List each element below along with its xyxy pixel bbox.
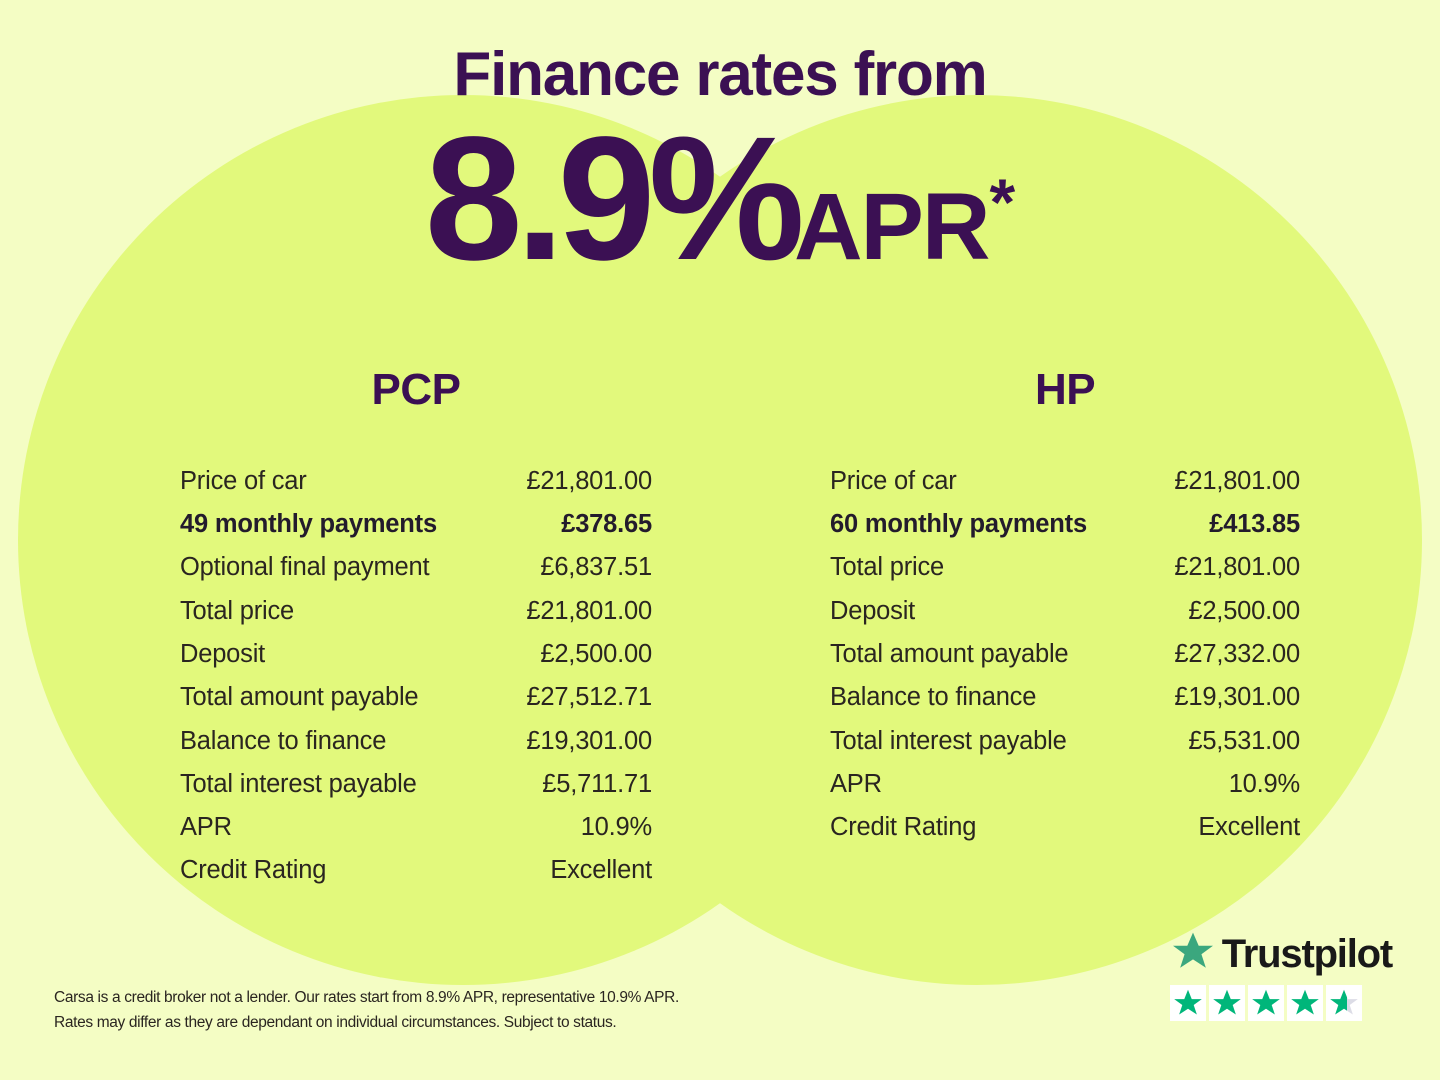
headline-block: Finance rates from 8.9% APR * [0,0,1440,287]
plan-row: Balance to finance£19,301.00 [180,720,652,763]
plan-row-label: Balance to finance [830,685,1036,711]
plan-row: APR10.9% [180,806,652,849]
plan-rows-pcp: Price of car£21,801.0049 monthly payment… [180,460,652,893]
plan-title-hp: HP [830,368,1300,412]
plan-row-label: 49 monthly payments [180,512,437,538]
plan-row: Optional final payment£6,837.51 [180,547,652,590]
plan-row: Credit RatingExcellent [830,806,1300,849]
plan-row-value: £6,837.51 [540,555,652,581]
plan-row-value: £27,332.00 [1174,642,1300,668]
plan-row: Total price£21,801.00 [180,590,652,633]
plan-row: 60 monthly payments£413.85 [830,503,1300,546]
plan-column-pcp: PCP Price of car£21,801.0049 monthly pay… [0,368,720,893]
trustpilot-rating-stars [1170,985,1392,1021]
plan-row-label: Total interest payable [180,772,417,798]
plan-rows-hp: Price of car£21,801.0060 monthly payment… [830,460,1300,850]
plan-row-label: Credit Rating [180,858,326,884]
plan-row-label: Total price [830,555,944,581]
plan-row: Total price£21,801.00 [830,547,1300,590]
plan-row: Deposit£2,500.00 [830,590,1300,633]
disclaimer-line-2: Rates may differ as they are dependant o… [54,1010,814,1035]
plan-row-value: £413.85 [1209,512,1300,538]
plan-row-label: Deposit [180,642,265,668]
plan-row-label: Credit Rating [830,815,976,841]
plan-row: APR10.9% [830,763,1300,806]
plan-row-value: £378.65 [561,512,652,538]
plan-row-value: £2,500.00 [540,642,652,668]
plan-row-label: Total amount payable [830,642,1068,668]
trustpilot-badge[interactable]: Trustpilot [1170,930,1392,1021]
trustpilot-star-box [1248,985,1284,1021]
plan-row: 49 monthly payments£378.65 [180,503,652,546]
plan-row-value: £21,801.00 [1174,469,1300,495]
plan-row: Price of car£21,801.00 [180,460,652,503]
plan-row: Price of car£21,801.00 [830,460,1300,503]
plan-row-label: Total amount payable [180,685,418,711]
trustpilot-wordmark: Trustpilot [1170,930,1392,978]
plan-column-hp: HP Price of car£21,801.0060 monthly paym… [720,368,1440,893]
plan-row-label: 60 monthly payments [830,512,1087,538]
plan-row-value: £21,801.00 [526,599,652,625]
disclaimer-line-1: Carsa is a credit broker not a lender. O… [54,985,814,1010]
plan-row: Deposit£2,500.00 [180,633,652,676]
plan-row-value: £27,512.71 [526,685,652,711]
plan-row-value: Excellent [1198,815,1300,841]
plan-title-pcp: PCP [180,368,652,412]
trustpilot-star-box [1170,985,1206,1021]
plan-row-value: Excellent [550,858,652,884]
trustpilot-star-icon [1170,930,1216,979]
disclaimer-text: Carsa is a credit broker not a lender. O… [54,985,814,1035]
trustpilot-star-box [1209,985,1245,1021]
finance-comparison: PCP Price of car£21,801.0049 monthly pay… [0,368,1440,893]
headline-asterisk: * [990,169,1016,235]
headline-kicker: Finance rates from [0,42,1440,107]
plan-row-value: £19,301.00 [526,729,652,755]
plan-row-value: £19,301.00 [1174,685,1300,711]
plan-row-value: £21,801.00 [526,469,652,495]
plan-row-value: £5,531.00 [1188,729,1300,755]
headline-apr-label: APR [794,180,989,275]
plan-row-value: £2,500.00 [1188,599,1300,625]
plan-row: Total amount payable£27,332.00 [830,633,1300,676]
headline-rate-row: 8.9% APR * [0,111,1440,287]
plan-row-value: £21,801.00 [1174,555,1300,581]
plan-row-label: APR [830,772,882,798]
plan-row: Total interest payable£5,711.71 [180,763,652,806]
trustpilot-wordmark-label: Trustpilot [1222,934,1392,974]
plan-row-value: 10.9% [1229,772,1300,798]
plan-row: Total amount payable£27,512.71 [180,676,652,719]
plan-row-label: Price of car [830,469,957,495]
trustpilot-star-box [1287,985,1323,1021]
plan-row-label: Deposit [830,599,915,625]
plan-row-value: 10.9% [581,815,652,841]
headline-rate-value: 8.9% [425,111,798,287]
plan-row-value: £5,711.71 [542,772,652,798]
plan-row-label: Price of car [180,469,307,495]
plan-row-label: Optional final payment [180,555,429,581]
plan-row: Balance to finance£19,301.00 [830,676,1300,719]
poster-canvas: Finance rates from 8.9% APR * PCP Price … [0,0,1440,1080]
plan-row: Credit RatingExcellent [180,850,652,893]
plan-row-label: APR [180,815,232,841]
plan-row-label: Balance to finance [180,729,386,755]
plan-row-label: Total price [180,599,294,625]
plan-row: Total interest payable£5,531.00 [830,720,1300,763]
trustpilot-star-box [1326,985,1362,1021]
plan-row-label: Total interest payable [830,729,1067,755]
